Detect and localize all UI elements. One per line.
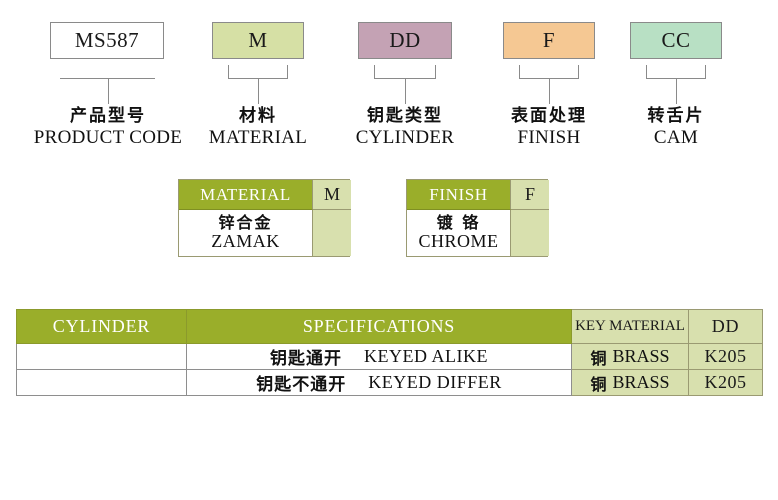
material-table-code: M [313,180,351,210]
cell-specification-cn: 钥匙通开 [270,344,342,369]
header-code-text: DD [712,316,740,336]
header-key-material-text: KEY MATERIAL [575,318,685,334]
code-box-material-text: M [248,28,267,53]
material-table-value-en: ZAMAK [211,232,280,251]
label-finish-en: FINISH [485,127,613,149]
material-table-code-text: M [324,184,340,205]
cell-specification-en: KEYED DIFFER [368,372,502,393]
finish-table-code: F [511,180,549,210]
header-specifications: SPECIFICATIONS [187,310,572,344]
code-box-finish: F [503,22,595,59]
label-material: 材料 MATERIAL [198,106,318,149]
header-cylinder-text: CYLINDER [53,316,150,336]
cell-cylinder [17,344,187,370]
connector-leg-left [646,65,647,78]
connector-leg-right [578,65,579,78]
finish-table-value-en: CHROME [418,232,498,251]
finish-table-value: 镀 铬 CHROME [407,210,511,256]
finish-table-code-text: F [525,184,535,205]
connector-stem [258,78,259,104]
label-product: 产品型号 PRODUCT CODE [10,106,206,149]
header-key-material: KEY MATERIAL [572,310,689,344]
code-box-cylinder-text: DD [389,28,420,53]
connector-stem [549,78,550,104]
cell-code: K205 [689,370,763,396]
diagram-canvas: MS587 产品型号 PRODUCT CODE M 材料 MATERIAL DD… [0,0,778,500]
header-specifications-text: SPECIFICATIONS [303,316,455,336]
code-box-cam: CC [630,22,722,59]
code-box-finish-text: F [543,28,555,53]
code-box-cam-text: CC [661,28,690,53]
label-cylinder-en: CYLINDER [340,127,470,149]
connector-leg-right [705,65,706,78]
cell-key-material-cn: 铜 [590,345,606,369]
cell-key-material-en: BRASS [612,372,669,393]
code-box-material: M [212,22,304,59]
label-product-en: PRODUCT CODE [10,127,206,149]
label-finish-cn: 表面处理 [485,106,613,126]
code-box-product: MS587 [50,22,164,59]
material-table-header: MATERIAL [179,180,313,210]
cell-key-material: 铜 BRASS [572,344,689,370]
connector-leg-right [435,65,436,78]
cell-cylinder [17,370,187,396]
label-cylinder-cn: 钥匙类型 [340,106,470,126]
label-cam-cn: 转舌片 [616,106,736,126]
cell-specification: 钥匙通开 KEYED ALIKE [187,344,572,370]
finish-table-header-text: FINISH [429,185,487,205]
finish-table: FINISH F 镀 铬 CHROME [406,179,548,257]
label-product-cn: 产品型号 [10,106,206,126]
cell-specification-cn: 钥匙不通开 [256,370,346,395]
finish-table-value-cn: 镀 铬 [437,215,481,232]
connector-stem [405,78,406,104]
cylinder-table-header-row: CYLINDER SPECIFICATIONS KEY MATERIAL DD [17,310,763,344]
material-table: MATERIAL M 锌合金 ZAMAK [178,179,350,257]
connector-leg-left [228,65,229,78]
label-material-cn: 材料 [198,106,318,126]
cell-code: K205 [689,344,763,370]
header-cylinder: CYLINDER [17,310,187,344]
label-cylinder: 钥匙类型 CYLINDER [340,106,470,149]
cell-specification-en: KEYED ALIKE [364,346,488,367]
connector-leg-left [519,65,520,78]
finish-table-value-code [511,210,549,256]
connector-stem [108,78,109,104]
label-cam-en: CAM [616,127,736,149]
connector-leg-right [287,65,288,78]
connector-stem [676,78,677,104]
material-table-value-code [313,210,351,256]
material-table-value-cn: 锌合金 [218,215,272,232]
cell-code-text: K205 [705,346,747,366]
cell-key-material-en: BRASS [612,346,669,367]
material-table-value: 锌合金 ZAMAK [179,210,313,256]
cell-key-material-cn: 铜 [590,371,606,395]
code-box-product-text: MS587 [75,28,139,53]
label-cam: 转舌片 CAM [616,106,736,149]
label-finish: 表面处理 FINISH [485,106,613,149]
cell-code-text: K205 [705,372,747,392]
code-box-cylinder: DD [358,22,452,59]
table-row: 钥匙不通开 KEYED DIFFER 铜 BRASS K205 [17,370,763,396]
cylinder-table: CYLINDER SPECIFICATIONS KEY MATERIAL DD [16,309,763,396]
label-material-en: MATERIAL [198,127,318,149]
finish-table-header: FINISH [407,180,511,210]
cell-key-material: 铜 BRASS [572,370,689,396]
cell-specification: 钥匙不通开 KEYED DIFFER [187,370,572,396]
header-code: DD [689,310,763,344]
material-table-header-text: MATERIAL [200,185,291,205]
connector-leg-left [374,65,375,78]
table-row: 钥匙通开 KEYED ALIKE 铜 BRASS K205 [17,344,763,370]
